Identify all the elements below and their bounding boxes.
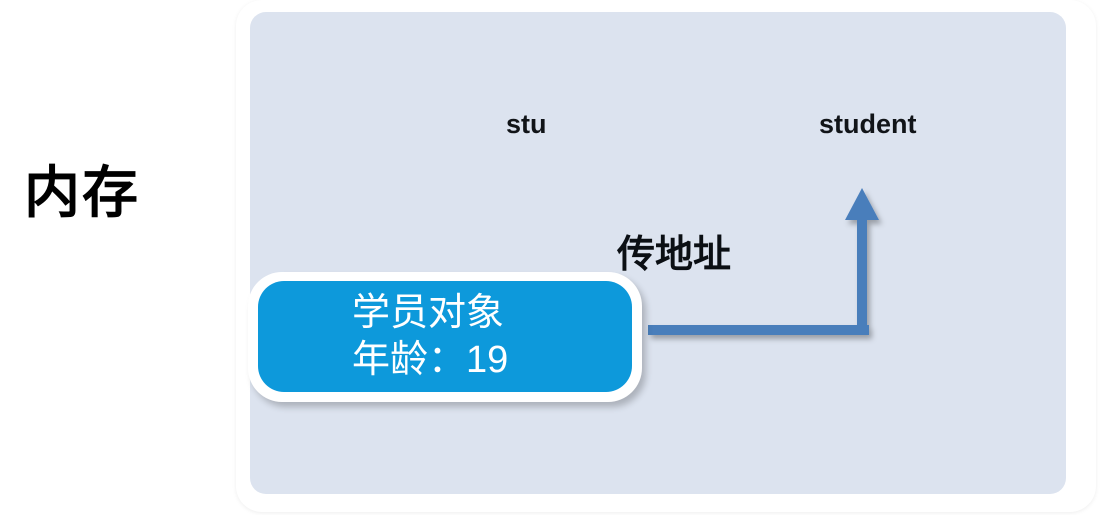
- variable-label-stu: stu: [506, 111, 547, 138]
- object-box-attribute: 年龄：19: [352, 337, 538, 383]
- object-box-title: 学员对象: [352, 290, 538, 336]
- arrow-body: [648, 188, 879, 335]
- memory-heading: 内存: [24, 165, 140, 221]
- elbow-arrow: [636, 178, 886, 358]
- variable-label-student: student: [819, 111, 917, 138]
- diagram-canvas: 内存 stu student 传地址 学员对象 年龄：19: [0, 0, 1110, 515]
- object-box: 学员对象 年龄：19: [258, 281, 632, 392]
